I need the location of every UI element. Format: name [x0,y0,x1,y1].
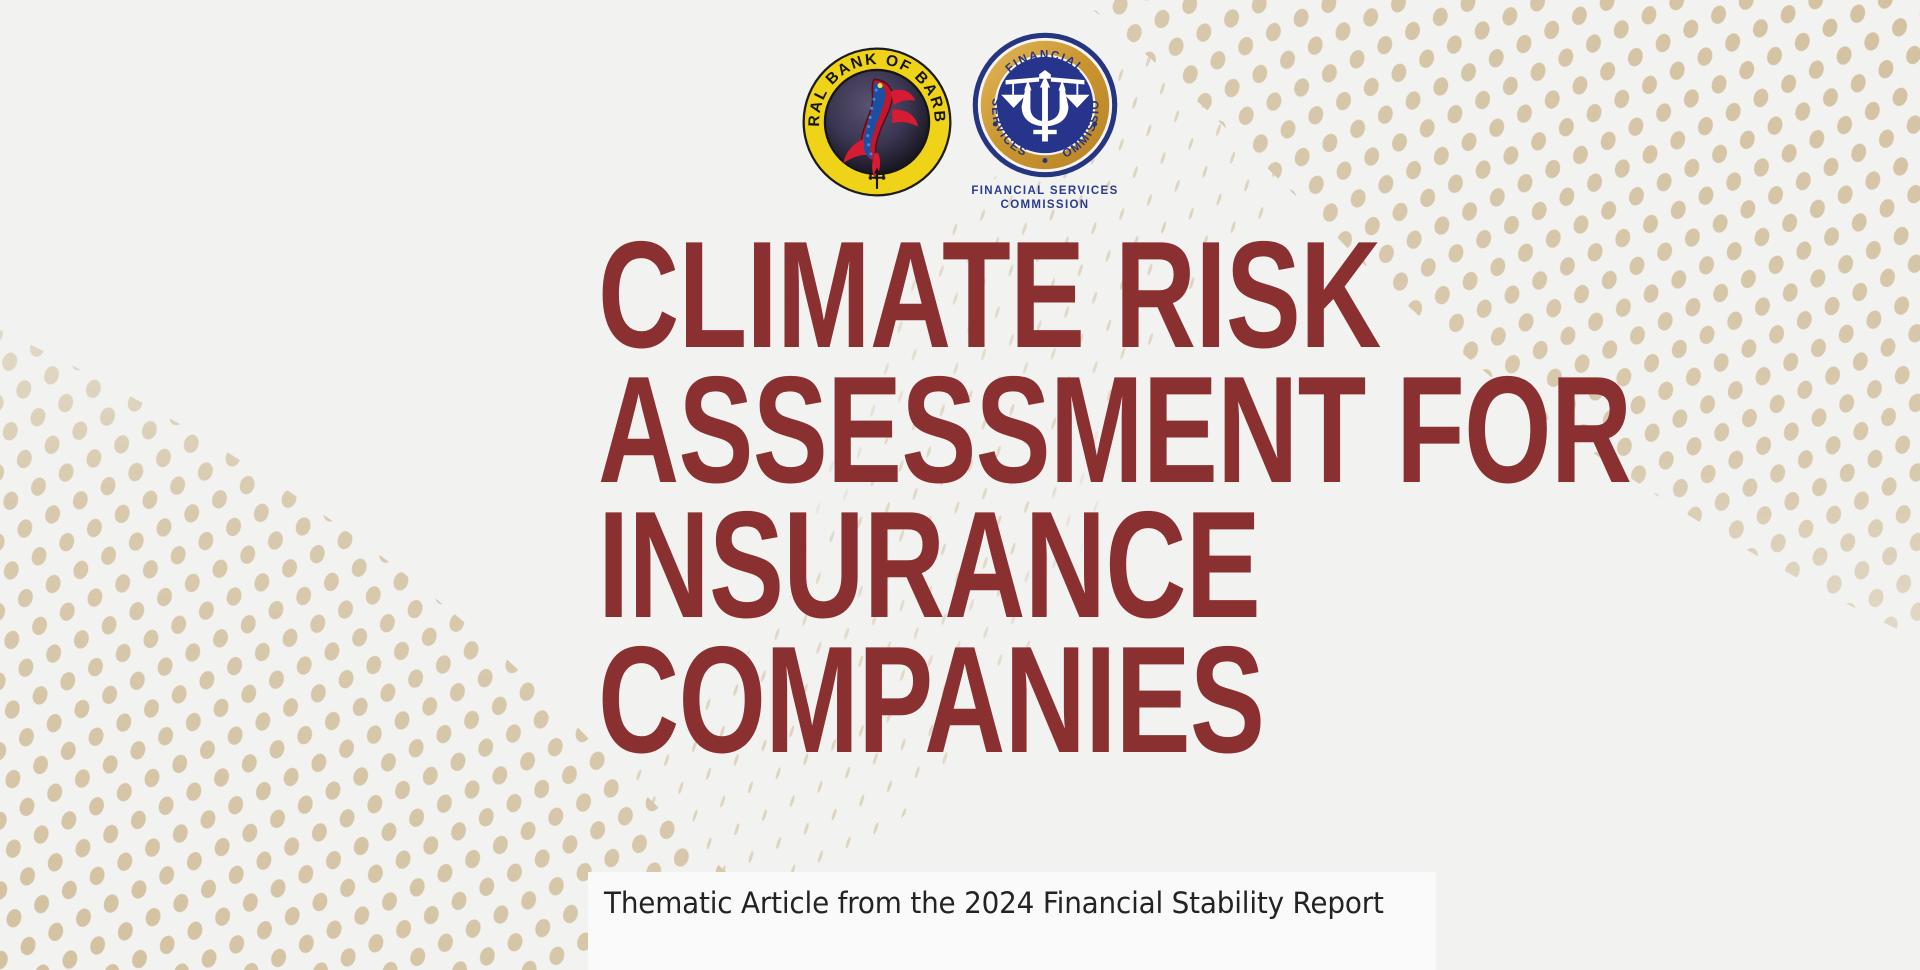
logo-row: CENTRAL BANK OF BARBADOS [0,32,1920,212]
cover-page: CENTRAL BANK OF BARBADOS [0,0,1920,970]
page-title-line-1: CLIMATE RISK [598,228,1412,363]
page-title-line-4: COMPANIES [598,633,1412,768]
central-bank-of-barbados-logo: CENTRAL BANK OF BARBADOS [801,46,953,198]
page-title-line-3: INSURANCE [598,498,1412,633]
subtitle: Thematic Article from the 2024 Financial… [604,886,1468,920]
fsc-logo-group: FINANCIAL SERVICES COMMISSION [971,32,1118,212]
financial-services-commission-seal: FINANCIAL SERVICES COMMISSION [972,32,1118,178]
fsc-caption: FINANCIAL SERVICES COMMISSION [971,184,1118,212]
page-title-line-2: ASSESSMENT FOR [598,363,1412,498]
page-title: CLIMATE RISK ASSESSMENT FOR INSURANCE CO… [598,228,1698,768]
fsc-caption-line-1: FINANCIAL SERVICES [971,184,1118,198]
